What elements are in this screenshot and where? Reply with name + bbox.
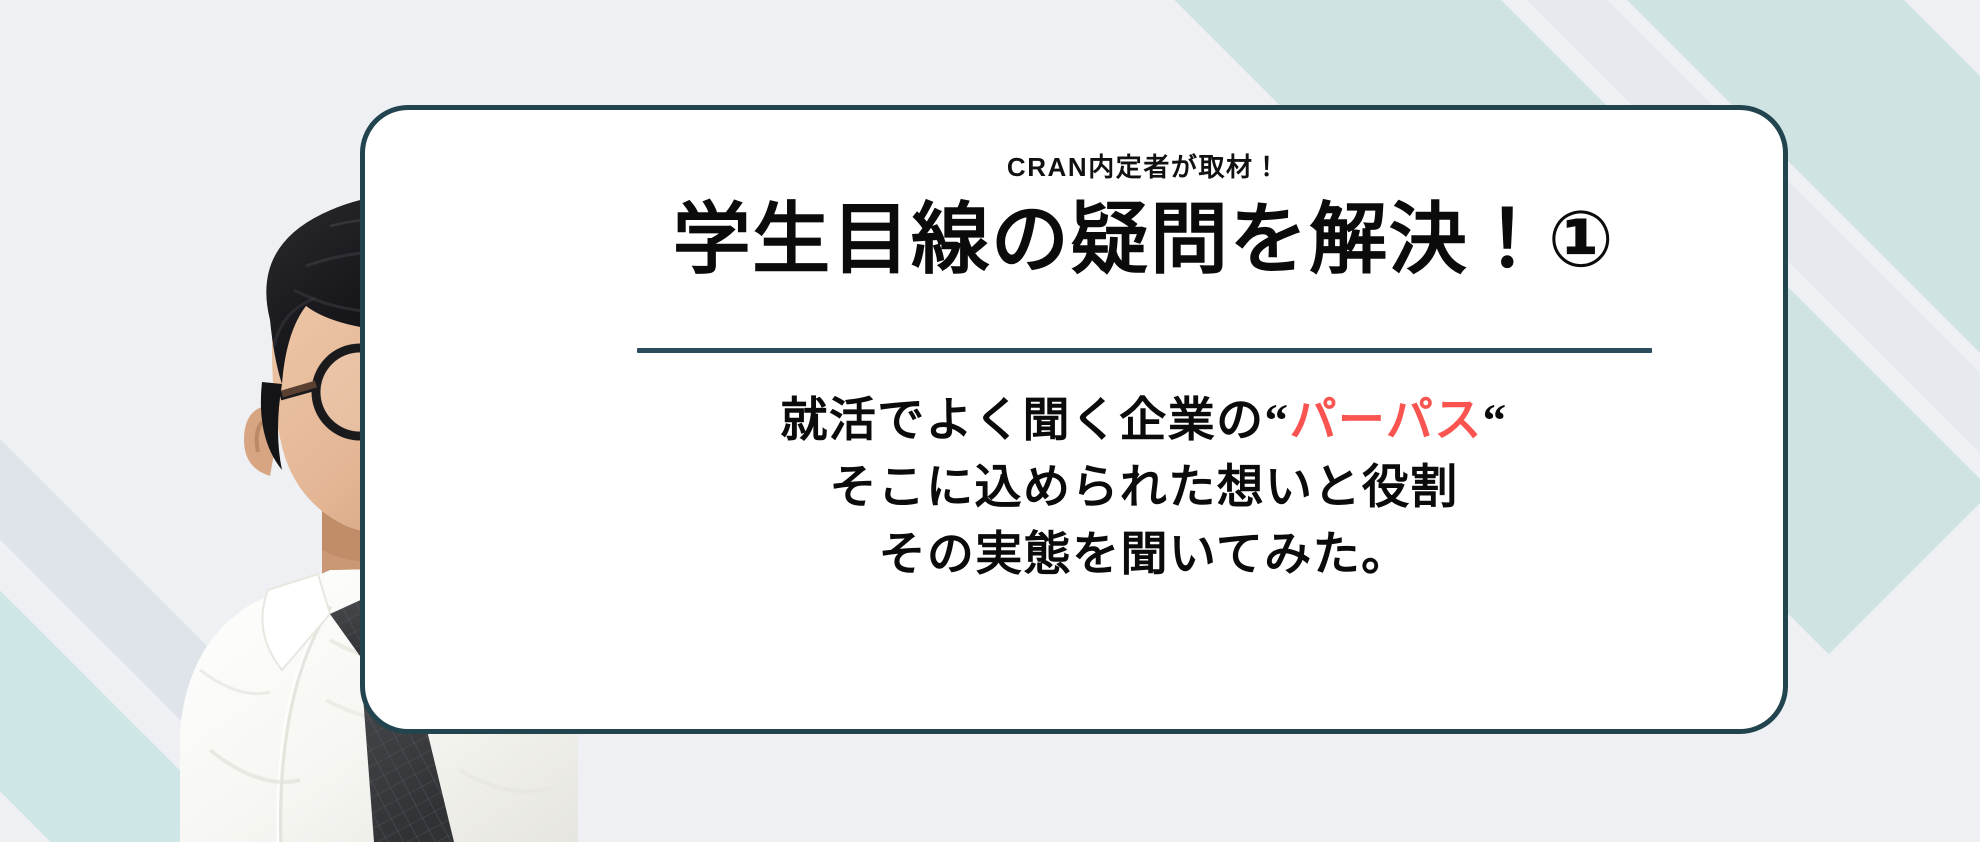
subcopy-accent-term: パーパス — [1289, 393, 1482, 446]
subcopy-line-2: そこに込められた想いと役割 — [780, 454, 1507, 521]
article-banner: CRAN内定者が取材！ 学生目線の疑問を解決！① 就活でよく聞く企業の“パーパス… — [0, 0, 1980, 842]
eyebrow-label: CRAN内定者が取材！ — [1007, 147, 1281, 184]
subcopy-line-1: 就活でよく聞く企業の“パーパス“ — [780, 387, 1507, 455]
page-title: 学生目線の疑問を解決！① — [673, 196, 1616, 283]
quote-close-icon: “ — [1483, 395, 1508, 447]
quote-open-icon: “ — [1265, 395, 1290, 447]
content-card: CRAN内定者が取材！ 学生目線の疑問を解決！① 就活でよく聞く企業の“パーパス… — [360, 105, 1788, 734]
title-divider — [637, 348, 1652, 353]
subcopy-line-1-prefix: 就活でよく聞く企業の — [780, 393, 1264, 446]
subcopy-block: 就活でよく聞く企業の“パーパス“ そこに込められた想いと役割 その実態を聞いてみ… — [780, 387, 1507, 588]
subcopy-line-3: その実態を聞いてみた。 — [780, 521, 1507, 588]
content-card-inner: CRAN内定者が取材！ 学生目線の疑問を解決！① 就活でよく聞く企業の“パーパス… — [365, 110, 1783, 729]
